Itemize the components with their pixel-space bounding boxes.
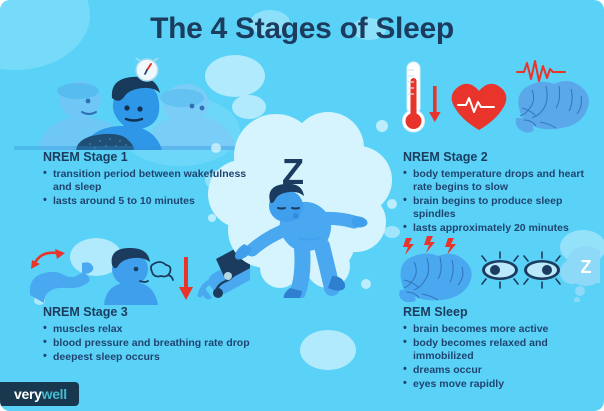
moving-eye-icon (524, 252, 560, 288)
nrem-stage-3-heading: NREM Stage 3 (43, 305, 258, 319)
list-item: body temperature drops and heart rate be… (403, 168, 603, 194)
thermometer-icon (403, 62, 425, 132)
background-blob (300, 330, 356, 370)
nrem-stage-1-block: NREM Stage 1 transition period between w… (43, 150, 248, 209)
down-arrow-icon (429, 86, 441, 122)
active-brain-icon (399, 254, 471, 303)
nrem-stage-1-heading: NREM Stage 1 (43, 150, 248, 164)
rem-sleep-block: REM Sleep brain becomes more active body… (403, 305, 598, 392)
nrem-stage-3-list: muscles relax blood pressure and breathi… (43, 323, 258, 364)
nrem-stage-3-block: NREM Stage 3 muscles relax blood pressur… (43, 305, 258, 365)
rem-icons: Z (396, 236, 600, 302)
list-item: eyes move rapidly (403, 378, 598, 391)
rem-sleep-list: brain becomes more active body becomes r… (403, 323, 598, 391)
sleep-spindle-wave-icon (517, 61, 565, 81)
list-item: lasts around 5 to 10 minutes (43, 195, 248, 208)
lightning-bolt-icon (403, 236, 456, 255)
heart-ekg-icon (452, 84, 507, 130)
list-item: lasts approximately 20 minutes (403, 222, 603, 235)
stage2-icons (396, 58, 600, 144)
nrem-stage-2-block: NREM Stage 2 body temperature drops and … (403, 150, 603, 236)
rem-sleep-heading: REM Sleep (403, 305, 598, 319)
breathing-person-icon (104, 248, 173, 305)
nrem-stage-2-heading: NREM Stage 2 (403, 150, 603, 164)
list-item: dreams occur (403, 364, 598, 377)
nrem-stage-1-list: transition period between wakefulness an… (43, 168, 248, 208)
moving-eye-icon (482, 252, 518, 288)
list-item: blood pressure and breathing rate drop (43, 337, 258, 350)
logo-text-very: very (14, 386, 42, 402)
down-arrow-icon (179, 257, 193, 300)
nrem-stage-2-list: body temperature drops and heart rate be… (403, 168, 603, 235)
list-item: transition period between wakefulness an… (43, 168, 248, 194)
list-item: brain begins to produce sleep spindles (403, 195, 603, 221)
list-item: brain becomes more active (403, 323, 598, 336)
list-item: muscles relax (43, 323, 258, 336)
dream-cloud-z-icon: Z (560, 246, 600, 302)
list-item: deepest sleep occurs (43, 351, 258, 364)
brain-icon (516, 81, 589, 133)
svg-text:Z: Z (581, 257, 592, 277)
list-item: body becomes relaxed and immobilized (403, 337, 598, 363)
logo-text-well: well (42, 386, 67, 402)
page-title: The 4 Stages of Sleep (0, 12, 604, 46)
infographic-poster: The 4 Stages of Sleep (0, 0, 604, 411)
relaxed-arm-icon (30, 249, 94, 303)
verywell-logo[interactable]: verywell (0, 382, 79, 406)
